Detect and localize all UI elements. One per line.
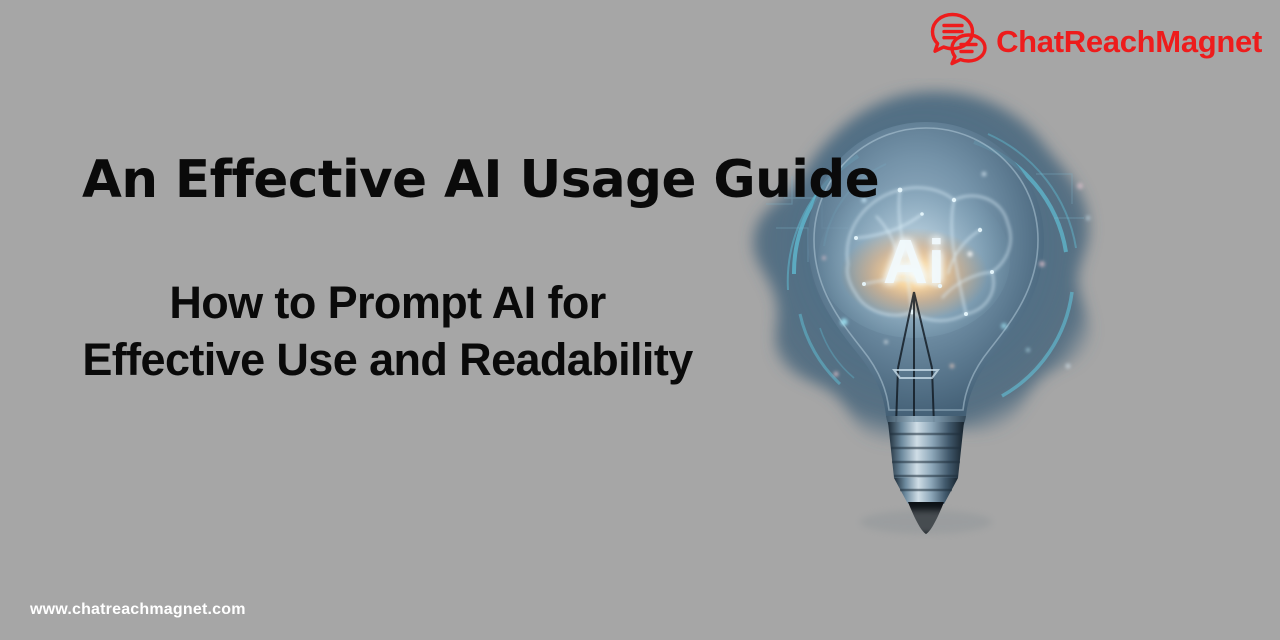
poster-canvas: Ai <box>0 0 1280 640</box>
bulb-shadow <box>860 510 992 534</box>
brand-logo[interactable]: ChatReachMagnet <box>928 10 1262 72</box>
page-subtitle: How to Prompt AI for Effective Use and R… <box>0 274 775 388</box>
page-title: An Effective AI Usage Guide <box>82 153 879 208</box>
bulb-ai-label: Ai <box>883 228 945 297</box>
page-subtitle-line-1: How to Prompt AI for <box>0 274 775 331</box>
chat-bubbles-icon <box>928 10 994 72</box>
ai-lightbulb-illustration: Ai <box>736 78 1116 540</box>
footer-website-url[interactable]: www.chatreachmagnet.com <box>30 602 246 618</box>
page-subtitle-line-2: Effective Use and Readability <box>0 331 775 388</box>
brand-name: ChatReachMagnet <box>996 26 1262 57</box>
